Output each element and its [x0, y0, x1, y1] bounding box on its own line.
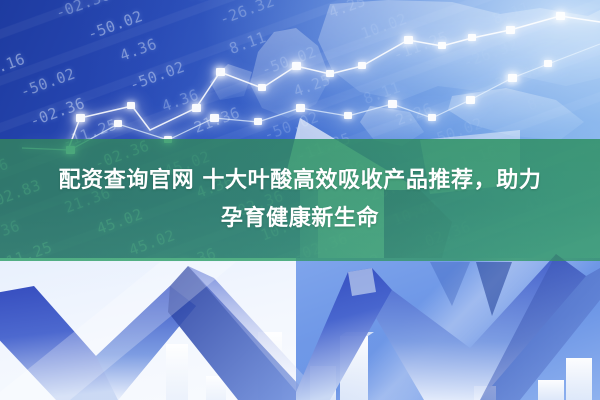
- article-banner-image: -50.02-02.3621.3645.02-50.028.11-26.32-0…: [0, 0, 600, 400]
- banner-headline-line-1: 配资查询官网 十大叶酸高效吸收产品推荐，助力: [59, 164, 542, 198]
- banner-title-block: 配资查询官网 十大叶酸高效吸收产品推荐，助力 孕育健康新生命: [0, 139, 600, 261]
- banner-headline-line-2: 孕育健康新生命: [221, 202, 379, 236]
